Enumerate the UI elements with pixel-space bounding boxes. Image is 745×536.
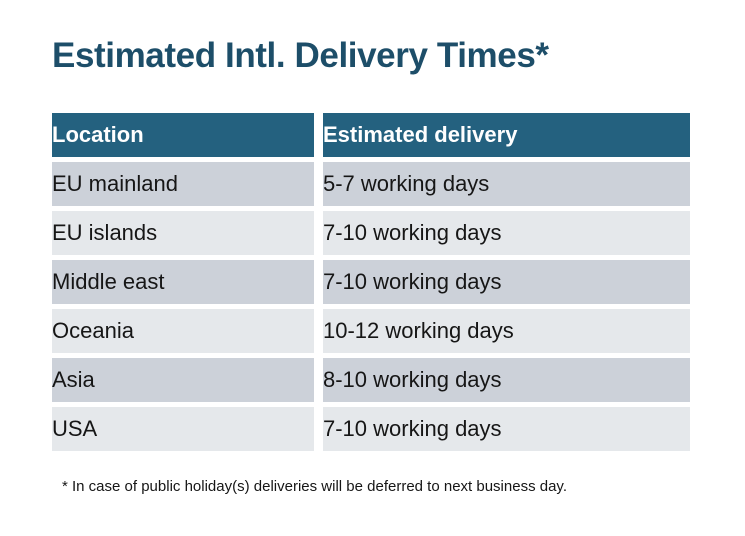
table-row: EU islands 7-10 working days — [52, 211, 690, 255]
table-row: Middle east 7-10 working days — [52, 260, 690, 304]
cell-delivery: 7-10 working days — [323, 211, 690, 255]
column-header-location: Location — [52, 113, 314, 157]
table-row: Oceania 10-12 working days — [52, 309, 690, 353]
cell-divider — [314, 211, 323, 255]
cell-location: USA — [52, 407, 314, 451]
cell-divider — [314, 358, 323, 402]
cell-location: EU mainland — [52, 162, 314, 206]
cell-location: EU islands — [52, 211, 314, 255]
cell-delivery: 5-7 working days — [323, 162, 690, 206]
table-header-row: Location Estimated delivery — [52, 113, 690, 157]
page-title: Estimated Intl. Delivery Times* — [52, 36, 549, 76]
table-header: Location Estimated delivery — [52, 113, 690, 157]
cell-divider — [314, 260, 323, 304]
cell-delivery: 7-10 working days — [323, 407, 690, 451]
table-row: EU mainland 5-7 working days — [52, 162, 690, 206]
cell-delivery: 8-10 working days — [323, 358, 690, 402]
cell-location: Oceania — [52, 309, 314, 353]
cell-divider — [314, 407, 323, 451]
table-body: EU mainland 5-7 working days EU islands … — [52, 157, 690, 451]
column-divider — [314, 113, 323, 157]
estimated-delivery-table: Location Estimated delivery EU mainland … — [52, 113, 690, 451]
table-row: Asia 8-10 working days — [52, 358, 690, 402]
cell-location: Asia — [52, 358, 314, 402]
column-header-estimated-delivery: Estimated delivery — [323, 113, 690, 157]
cell-location: Middle east — [52, 260, 314, 304]
cell-delivery: 7-10 working days — [323, 260, 690, 304]
delivery-times-panel: Estimated Intl. Delivery Times* Location… — [0, 0, 745, 536]
footnote-text: * In case of public holiday(s) deliverie… — [62, 478, 567, 495]
cell-delivery: 10-12 working days — [323, 309, 690, 353]
cell-divider — [314, 162, 323, 206]
table-row: USA 7-10 working days — [52, 407, 690, 451]
cell-divider — [314, 309, 323, 353]
